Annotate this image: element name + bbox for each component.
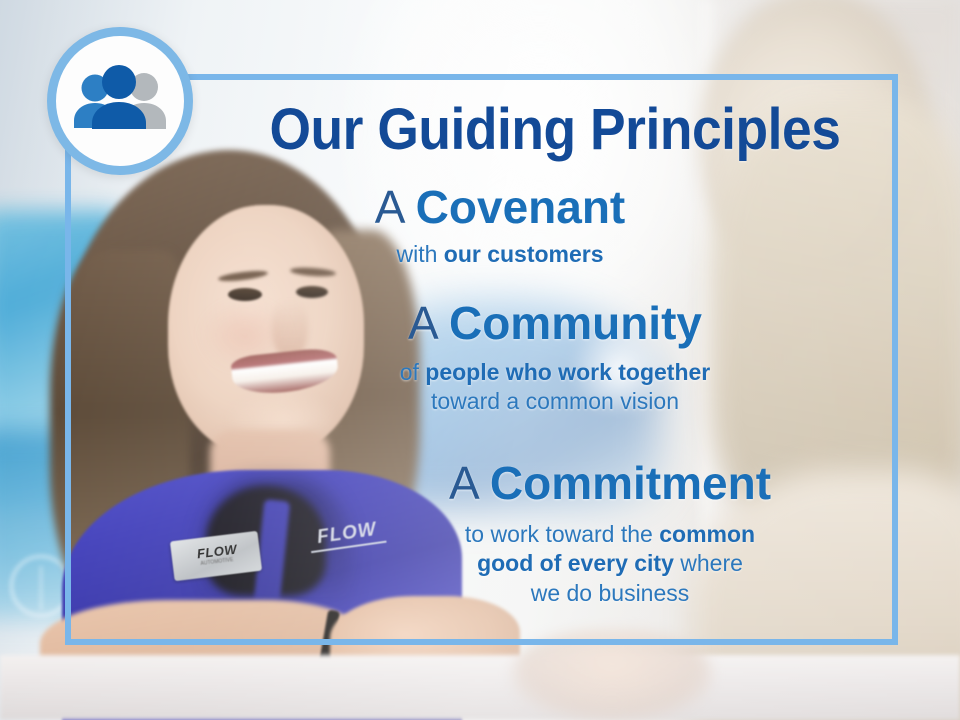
principle-community-keyword: Community xyxy=(449,297,702,349)
principle-commitment-body: to work toward the common good of every … xyxy=(340,520,880,608)
principle-commitment-keyword: Commitment xyxy=(490,457,771,509)
principle-commitment-article: A xyxy=(449,457,477,509)
principle-community-body-line1: of people who work together xyxy=(295,358,815,387)
principle-commitment-line2-tail: where xyxy=(674,550,743,576)
principle-community-body-line2: toward a common vision xyxy=(295,387,815,416)
principle-community-article: A xyxy=(408,297,436,349)
principle-covenant-body-lead: with xyxy=(396,241,443,267)
page-title: Our Guiding Principles xyxy=(239,96,870,163)
principle-covenant-article: A xyxy=(375,181,403,233)
principle-covenant-body: with our customers xyxy=(245,240,755,269)
principle-commitment-body-line1: to work toward the common xyxy=(340,520,880,549)
principle-commitment-line1-lead: to work toward the xyxy=(465,521,659,547)
principle-community: A Community of people who work together … xyxy=(295,300,815,417)
principle-commitment-body-line3: we do business xyxy=(340,579,880,608)
principle-community-line1-lead: of xyxy=(400,359,426,385)
principle-covenant-keyword: Covenant xyxy=(416,181,626,233)
principle-commitment-heading: A Commitment xyxy=(340,460,880,508)
principle-covenant-body-bold: our customers xyxy=(444,241,604,267)
principle-commitment-body-line2: good of every city where xyxy=(340,549,880,578)
text-layer: Our Guiding Principles A Covenant with o… xyxy=(0,0,960,720)
principle-covenant: A Covenant with our customers xyxy=(245,184,755,269)
principle-commitment: A Commitment to work toward the common g… xyxy=(340,460,880,608)
principle-community-line1-bold: people who work together xyxy=(425,359,710,385)
principle-covenant-heading: A Covenant xyxy=(245,184,755,232)
principle-community-heading: A Community xyxy=(295,300,815,348)
principle-community-body: of people who work together toward a com… xyxy=(295,358,815,417)
promotional-graphic: FLOW AUTOMOTIVE FLOW Ou xyxy=(0,0,960,720)
principle-commitment-line2-bold: good of every city xyxy=(477,550,674,576)
principle-commitment-line1-bold: common xyxy=(659,521,755,547)
